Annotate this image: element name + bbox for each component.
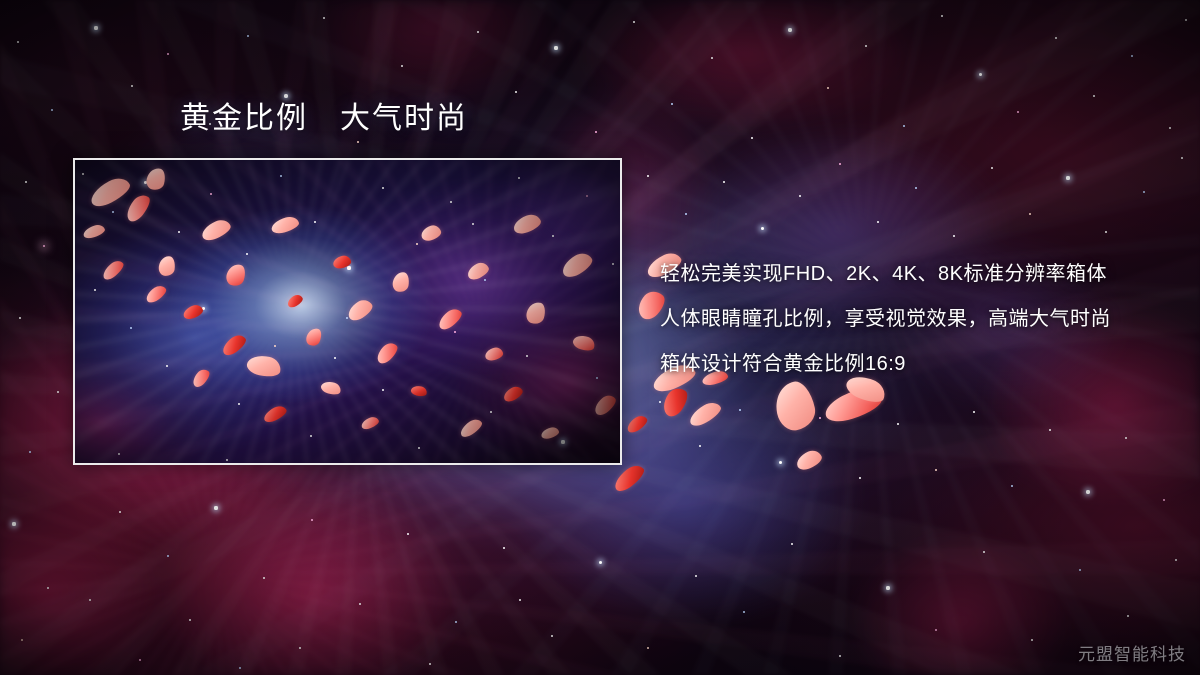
- star-icon: [51, 109, 53, 111]
- star-icon: [139, 659, 141, 661]
- star-icon: [903, 125, 905, 127]
- star-icon: [359, 603, 361, 605]
- framed-image-panel: [73, 158, 622, 465]
- star-icon: [21, 639, 23, 641]
- star-icon: [407, 533, 410, 536]
- star-icon: [357, 141, 359, 143]
- star-icon: [167, 53, 170, 56]
- star-icon: [953, 235, 955, 237]
- star-icon: [1143, 191, 1145, 193]
- star-icon: [897, 423, 899, 425]
- star-icon: [671, 103, 673, 105]
- star-icon: [12, 522, 15, 525]
- star-icon: [17, 41, 19, 43]
- star-icon: [1093, 95, 1095, 97]
- star-icon: [131, 85, 133, 87]
- star-icon: [1169, 127, 1171, 129]
- star-icon: [859, 477, 861, 479]
- watermark: 元盟智能科技: [1078, 640, 1186, 665]
- flower-petal-icon: [821, 384, 884, 427]
- star-icon: [935, 469, 938, 472]
- star-icon: [1055, 37, 1057, 39]
- star-icon: [799, 195, 801, 197]
- star-icon: [915, 187, 918, 190]
- star-icon: [43, 245, 46, 248]
- star-icon: [551, 635, 553, 637]
- description-line-1: 轻松完美实现FHD、2K、4K、8K标准分辨率箱体: [660, 252, 1180, 297]
- star-icon: [1049, 429, 1051, 431]
- star-icon: [1086, 490, 1089, 493]
- star-icon: [214, 506, 217, 509]
- star-icon: [515, 91, 517, 93]
- page-title: 黄金比例 大气时尚: [180, 100, 468, 138]
- star-icon: [503, 547, 505, 549]
- star-icon: [401, 65, 403, 67]
- star-icon: [1029, 213, 1031, 215]
- star-icon: [751, 137, 753, 139]
- star-icon: [827, 87, 829, 89]
- panel-image: [75, 160, 620, 463]
- star-icon: [979, 73, 982, 76]
- star-icon: [1131, 55, 1134, 58]
- star-icon: [47, 587, 49, 589]
- star-icon: [1125, 437, 1127, 439]
- star-icon: [1127, 615, 1129, 617]
- flower-petal-icon: [686, 399, 723, 430]
- star-icon: [455, 621, 457, 623]
- star-icon: [739, 409, 741, 411]
- panel-vignette: [75, 160, 620, 463]
- star-icon: [247, 35, 249, 37]
- presentation-slide: 黄金比例 大气时尚 轻松完美实现FHD、2K、4K、8K标准分辨率箱体 人体眼睛…: [0, 0, 1200, 675]
- star-icon: [886, 586, 889, 589]
- star-icon: [1181, 157, 1183, 159]
- star-icon: [19, 317, 21, 319]
- star-icon: [711, 57, 714, 60]
- star-icon: [189, 619, 191, 621]
- star-icon: [647, 647, 649, 649]
- star-icon: [877, 221, 879, 223]
- star-icon: [1079, 569, 1082, 572]
- star-icon: [29, 451, 31, 453]
- star-icon: [723, 181, 725, 183]
- star-icon: [839, 655, 841, 657]
- star-icon: [595, 131, 597, 133]
- star-icon: [25, 181, 27, 183]
- star-icon: [1105, 231, 1107, 233]
- star-icon: [323, 17, 325, 19]
- star-icon: [1163, 499, 1165, 501]
- star-icon: [1175, 559, 1177, 561]
- star-icon: [1031, 639, 1033, 641]
- star-icon: [239, 667, 241, 669]
- star-icon: [1011, 485, 1013, 487]
- flower-petal-icon: [658, 384, 691, 420]
- star-icon: [743, 611, 745, 613]
- star-icon: [685, 213, 687, 215]
- star-icon: [647, 175, 649, 177]
- flower-petal-icon: [611, 461, 648, 495]
- star-icon: [941, 15, 943, 17]
- star-icon: [659, 401, 661, 403]
- star-icon: [991, 167, 993, 169]
- star-icon: [94, 26, 97, 29]
- star-icon: [983, 551, 985, 553]
- star-icon: [263, 577, 265, 579]
- star-icon: [699, 445, 702, 448]
- star-icon: [791, 543, 793, 545]
- star-icon: [1185, 19, 1187, 21]
- star-icon: [599, 561, 602, 564]
- star-icon: [429, 663, 432, 666]
- star-icon: [284, 94, 288, 98]
- star-icon: [865, 45, 867, 47]
- description-line-3: 箱体设计符合黄金比例16:9: [660, 342, 1180, 387]
- star-icon: [1066, 176, 1069, 179]
- description-text-block: 轻松完美实现FHD、2K、4K、8K标准分辨率箱体 人体眼睛瞳孔比例，享受视觉效…: [660, 252, 1180, 387]
- star-icon: [519, 599, 521, 601]
- star-icon: [788, 28, 791, 31]
- flower-petal-icon: [794, 447, 824, 472]
- flower-petal-icon: [625, 413, 650, 435]
- star-icon: [1017, 111, 1019, 113]
- star-icon: [935, 629, 937, 631]
- star-icon: [89, 599, 91, 601]
- star-icon: [311, 519, 313, 521]
- star-icon: [633, 21, 635, 23]
- star-icon: [779, 461, 782, 464]
- star-icon: [839, 163, 841, 165]
- star-icon: [819, 417, 821, 419]
- star-icon: [554, 46, 557, 49]
- star-icon: [57, 391, 59, 393]
- star-icon: [299, 647, 301, 649]
- star-icon: [761, 227, 764, 230]
- star-icon: [973, 411, 975, 413]
- star-icon: [695, 575, 697, 577]
- description-line-2: 人体眼睛瞳孔比例，享受视觉效果，高端大气时尚: [660, 297, 1180, 342]
- star-icon: [119, 511, 121, 513]
- star-icon: [477, 31, 479, 33]
- star-icon: [167, 555, 169, 557]
